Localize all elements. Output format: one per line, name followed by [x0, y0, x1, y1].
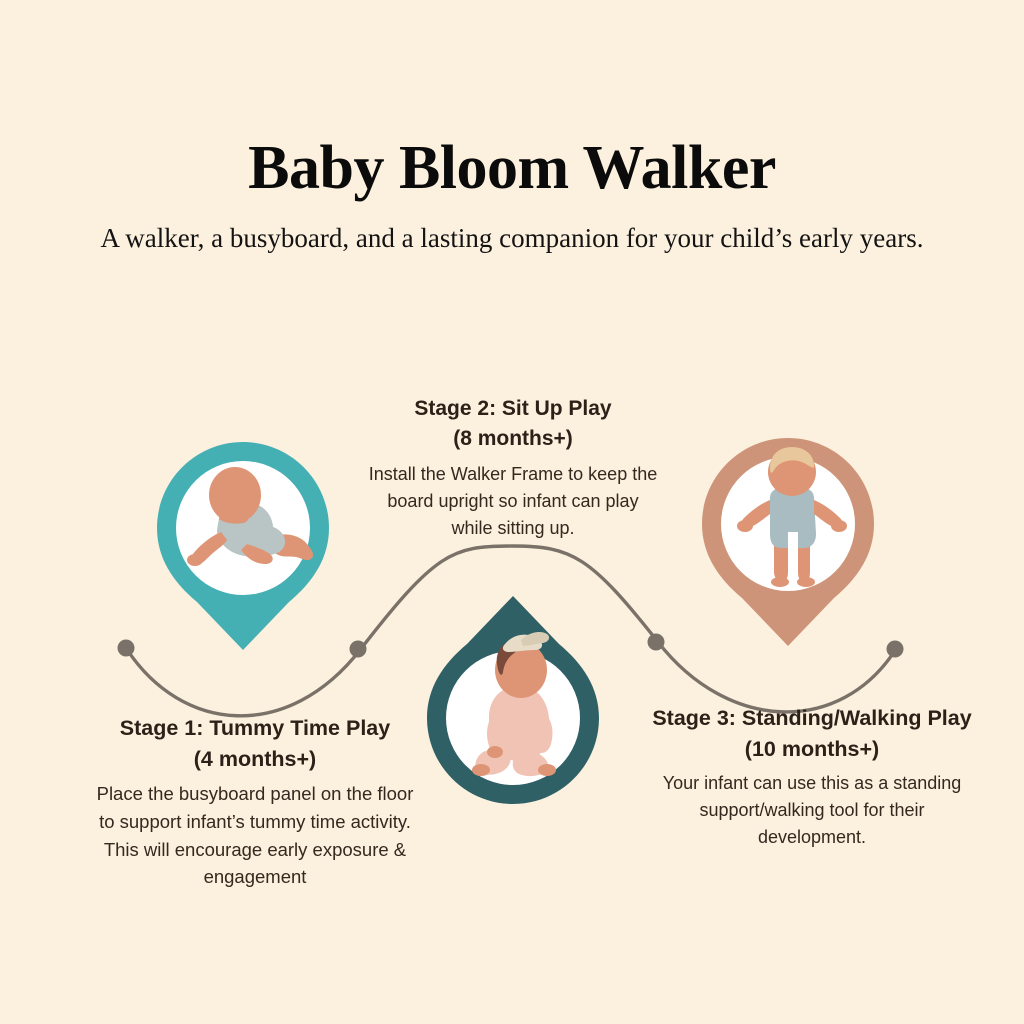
connector-dot: [887, 641, 904, 658]
stage-3-text-block: Stage 3: Standing/Walking Play (10 month…: [598, 703, 1024, 851]
stage-3-body: Your infant can use this as a standing s…: [598, 770, 1024, 851]
stage-3-heading: Stage 3: Standing/Walking Play (10 month…: [598, 703, 1024, 764]
page-title: Baby Bloom Walker: [0, 0, 1024, 201]
stage-2-text-block: Stage 2: Sit Up Play (8 months+) Install…: [322, 394, 704, 542]
stage-2-heading: Stage 2: Sit Up Play (8 months+): [322, 394, 704, 454]
infographic-canvas: Baby Bloom Walker A walker, a busyboard,…: [0, 0, 1024, 1024]
connector-dot: [648, 634, 665, 651]
stage-1-text-block: Stage 1: Tummy Time Play (4 months+) Pla…: [34, 713, 476, 891]
header: Baby Bloom Walker A walker, a busyboard,…: [0, 0, 1024, 258]
stage-2-body: Install the Walker Frame to keep the boa…: [322, 461, 704, 542]
connector-dot: [350, 641, 367, 658]
connector-dot: [118, 640, 135, 657]
page-subtitle: A walker, a busyboard, and a lasting com…: [0, 201, 1024, 258]
stage-1-heading: Stage 1: Tummy Time Play (4 months+): [34, 713, 476, 774]
stage-1-body: Place the busyboard panel on the floor t…: [34, 780, 476, 891]
stage-1-pin-marker[interactable]: [155, 440, 331, 652]
stage-3-pin-marker[interactable]: [700, 436, 876, 648]
